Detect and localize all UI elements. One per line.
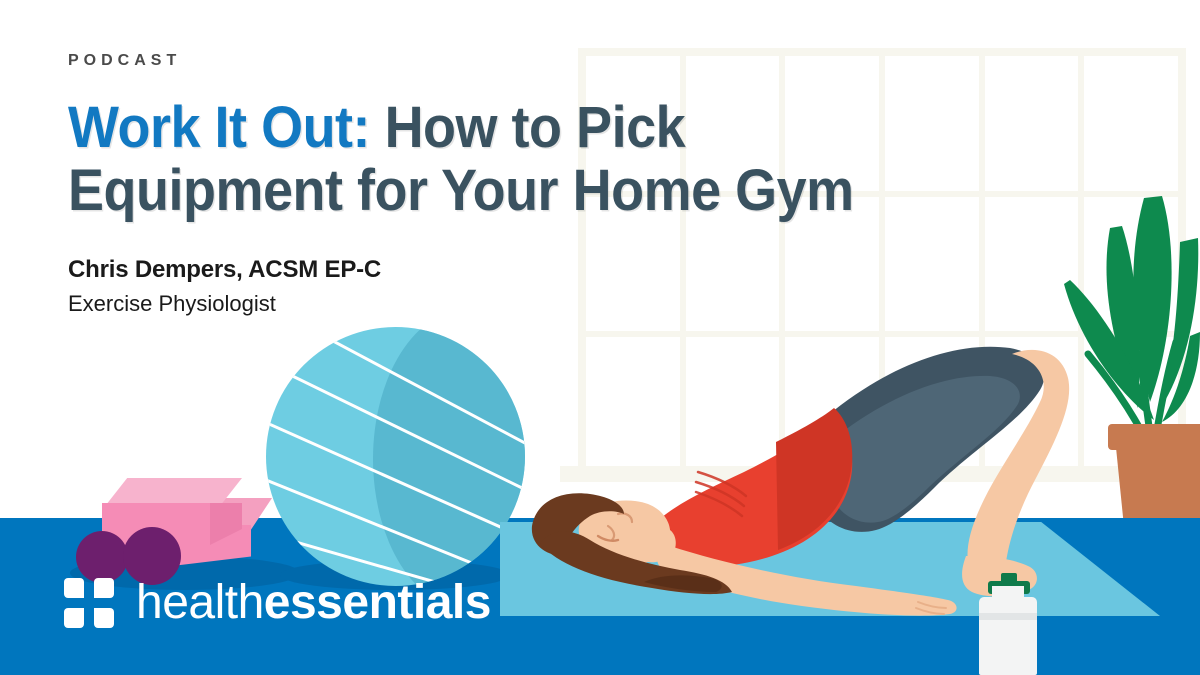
logo-square-top-right [94,578,114,598]
logo-square-bottom-left [64,608,84,628]
logo-square-top-left [64,578,84,598]
water-bottle-ring [979,613,1037,620]
brand-word-light: health [136,576,264,629]
plant-pot-rim [1108,424,1200,450]
cleveland-clinic-logo-mark-icon [64,578,114,628]
brand-wordmark: healthessentials [136,575,491,630]
title-highlight: Work It Out: [68,95,370,160]
window-pane [1084,56,1178,191]
brand-logo[interactable]: healthessentials [64,575,491,630]
kicker-label: PODCAST [68,52,1048,70]
speaker-role: Exercise Physiologist [68,291,1048,317]
page-title: Work It Out: How to Pick Equipment for Y… [68,96,970,222]
logo-square-bottom-right [94,608,114,628]
title-text-block: PODCAST Work It Out: How to Pick Equipme… [68,52,1048,317]
brand-word-bold: essentials [264,576,491,629]
exercise-ball [266,327,525,586]
podcast-title-card: PODCAST Work It Out: How to Pick Equipme… [0,0,1200,675]
speaker-name: Chris Dempers, ACSM EP-C [68,256,1048,284]
water-bottle-body [979,597,1037,675]
